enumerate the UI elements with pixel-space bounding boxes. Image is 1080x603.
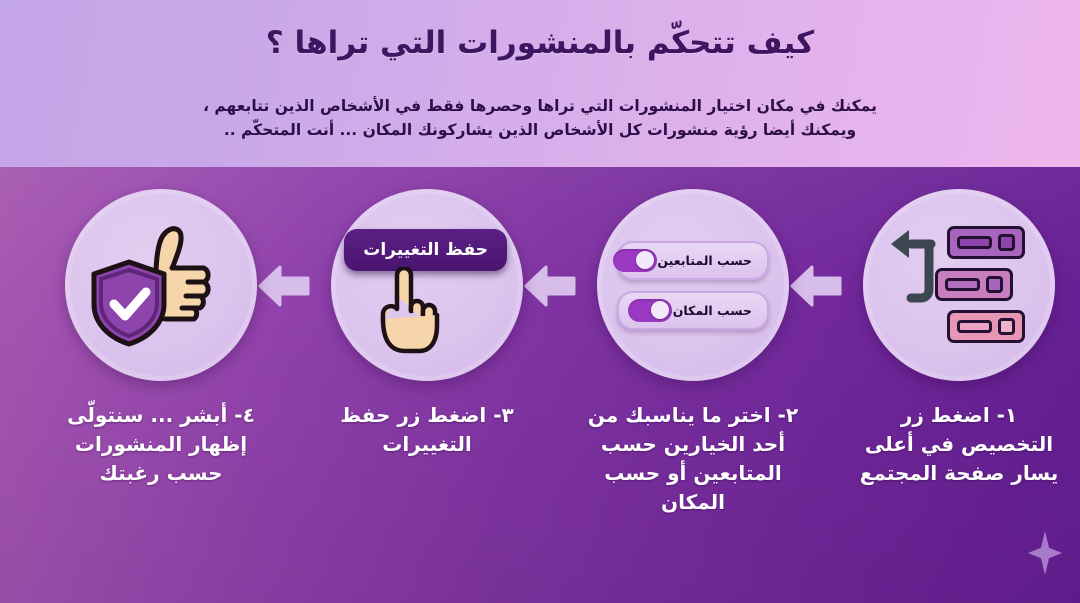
shield-check-icon <box>88 258 170 348</box>
list-row-item <box>947 310 1025 343</box>
header-banner: كيف تتحكّم بالمنشورات التي تراها ؟ يمكنك… <box>0 0 1080 167</box>
row-bar <box>957 320 992 333</box>
save-changes-button[interactable]: حفظ التغييرات <box>344 229 507 271</box>
toggle-row-followers[interactable]: حسب المتابعين <box>617 241 769 280</box>
row-checkbox-icon <box>986 276 1003 293</box>
row-bar <box>945 278 980 291</box>
header-subtitle: يمكنك في مكان اختيار المنشورات التي تراه… <box>0 94 1080 142</box>
toggle-switch-location[interactable] <box>628 299 672 322</box>
page-title: كيف تتحكّم بالمنشورات التي تراها ؟ <box>0 24 1080 63</box>
step-2: حسب المتابعين حسب المكان ٢- اختر ما يناس… <box>578 189 808 517</box>
step-3-caption: ٣- اضغط زر حفظ التغييرات <box>312 401 542 459</box>
subtitle-line-1: يمكنك في مكان اختيار المنشورات التي تراه… <box>0 94 1080 118</box>
toggle-switch-followers[interactable] <box>613 249 657 272</box>
toggle-row-location[interactable]: حسب المكان <box>617 291 769 330</box>
step-4: ٤- أبشر ... سنتولّى إظهار المنشورات حسب … <box>46 189 276 488</box>
steps-stage: ١- اضغط زر التخصيص في أعلى يسار صفحة الم… <box>0 167 1080 603</box>
toggle-label-location: حسب المكان <box>673 303 758 318</box>
thumbs-up-shield-icon <box>86 220 236 350</box>
hand-pointer-icon: حفظ التغييرات <box>343 215 511 355</box>
step-1: ١- اضغط زر التخصيص في أعلى يسار صفحة الم… <box>844 189 1074 488</box>
step-4-circle <box>65 189 257 381</box>
step-2-caption: ٢- اختر ما يناسبك من أحد الخيارين حسب ال… <box>578 401 808 517</box>
toggle-knob <box>651 301 669 319</box>
infographic-page: كيف تتحكّم بالمنشورات التي تراها ؟ يمكنك… <box>0 0 1080 603</box>
step-3-circle: حفظ التغييرات <box>331 189 523 381</box>
step-1-caption: ١- اضغط زر التخصيص في أعلى يسار صفحة الم… <box>844 401 1074 488</box>
toggle-switches-icon: حسب المتابعين حسب المكان <box>617 241 769 330</box>
sparkle-star-icon <box>1028 531 1062 575</box>
row-bar <box>957 236 992 249</box>
row-checkbox-icon <box>998 234 1015 251</box>
step-4-caption: ٤- أبشر ... سنتولّى إظهار المنشورات حسب … <box>46 401 276 488</box>
toggle-label-followers: حسب المتابعين <box>657 253 758 268</box>
step-3: حفظ التغييرات ٣- اضغط زر حفظ التغييرات <box>312 189 542 459</box>
customize-rows-icon <box>893 226 1025 344</box>
row-checkbox-icon <box>998 318 1015 335</box>
toggle-knob <box>636 251 654 269</box>
step-2-circle: حسب المتابعين حسب المكان <box>597 189 789 381</box>
pointing-hand-icon <box>373 267 447 355</box>
step-1-circle <box>863 189 1055 381</box>
list-row-item <box>947 226 1025 259</box>
list-row-item <box>935 268 1013 301</box>
curved-back-arrow-icon <box>885 228 937 310</box>
subtitle-line-2: ويمكنك أيضا رؤية منشورات كل الأشخاص الذي… <box>0 118 1080 142</box>
